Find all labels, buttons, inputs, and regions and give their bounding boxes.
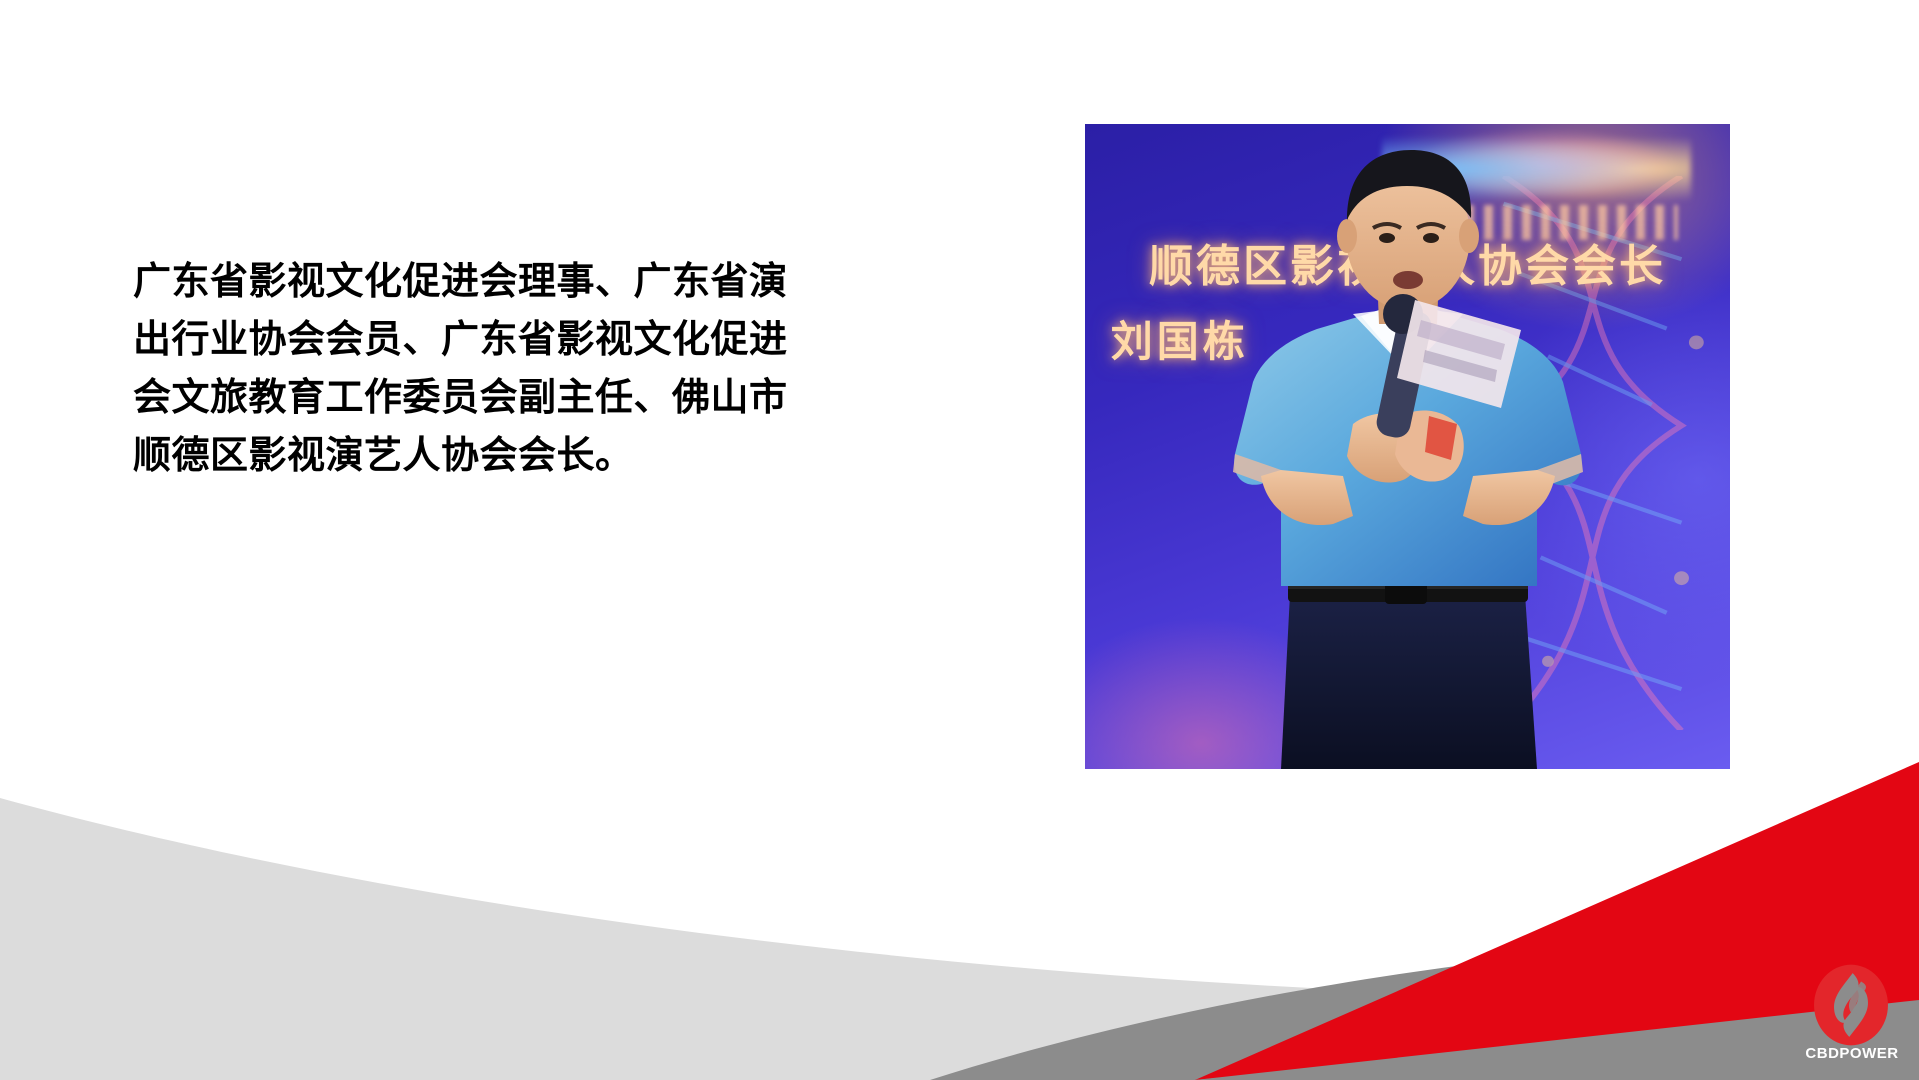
flame-logo-icon [1809,963,1893,1047]
mid-gray-wedge [930,930,1919,1080]
left-arm [1261,470,1353,525]
body-text-block: 广东省影视文化促进会理事、广东省演 出行业协会会员、广东省影视文化促进 会文旅教… [133,252,708,484]
trousers [1281,594,1537,769]
body-text-line-2: 出行业协会会员、广东省影视文化促进 [133,310,708,368]
speaker-photo: 顺德区影视艺人协会会长 刘国栋 [1085,124,1730,769]
cbdpower-logo: CBDPOWER [1797,963,1907,1068]
logo-wordmark: CBDPOWER [1797,1045,1907,1062]
body-text-line-4: 顺德区影视演艺人协会会长。 [133,426,708,484]
presentation-slide: 顺德区影视艺人协会会长 刘国栋 [0,0,1919,1080]
light-gray-curve [0,798,1919,1080]
body-text-line-1: 广东省影视文化促进会理事、广东省演 [133,252,708,310]
body-text-line-3: 会文旅教育工作委员会副主任、佛山市 [133,368,708,426]
speaker-figure [1085,124,1730,769]
right-arm [1463,470,1555,525]
